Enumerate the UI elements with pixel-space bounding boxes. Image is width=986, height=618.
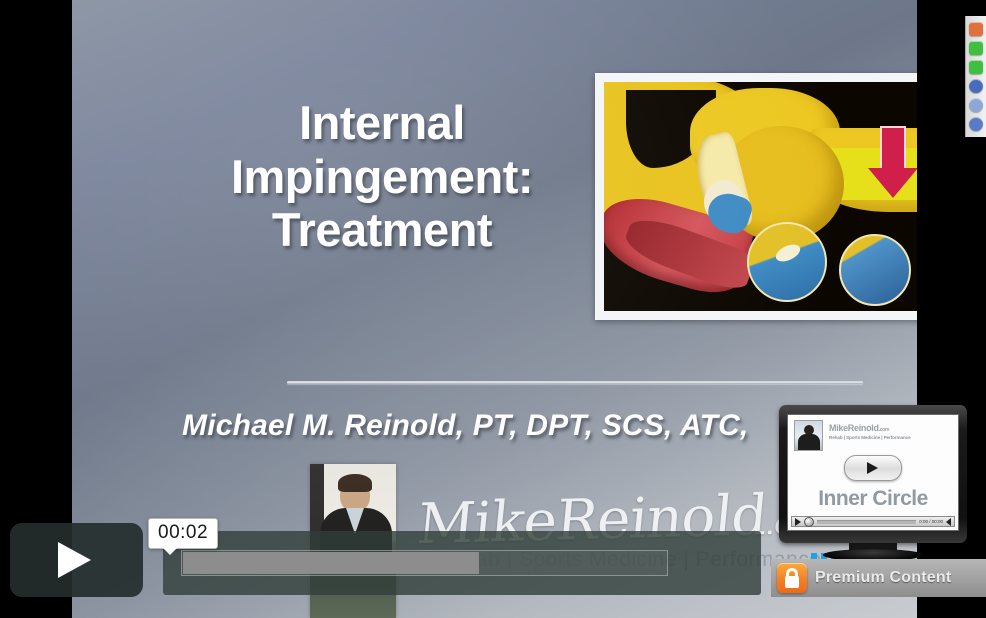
- slide-title-line-1: Internal: [167, 96, 597, 150]
- labrum-tear-shape-icon: [703, 188, 755, 237]
- monitor-screen: MikeReinold.com Rehab | Sports Medicine …: [787, 414, 959, 531]
- slide-divider: [287, 381, 863, 384]
- inset-detail-circle-1-icon: [747, 222, 827, 302]
- avatar: [794, 420, 823, 451]
- inner-circle-header: MikeReinold.com Rehab | Sports Medicine …: [794, 420, 911, 451]
- acromion-shape-icon: [690, 88, 840, 184]
- time-tooltip: 00:02: [148, 518, 218, 549]
- feed-share-icon[interactable]: [969, 41, 983, 55]
- inner-circle-tagline: Rehab | Sports Medicine | Performance: [829, 435, 911, 440]
- video-player-stage: Internal Impingement: Treatment: [0, 0, 986, 618]
- slide-title-line-2: Impingement:: [167, 150, 597, 204]
- inner-circle-brand: MikeReinold.com: [829, 420, 911, 433]
- premium-content-label: Premium Content: [815, 569, 951, 587]
- inner-circle-promo-widget[interactable]: MikeReinold.com Rehab | Sports Medicine …: [775, 399, 971, 562]
- progress-bar[interactable]: [181, 550, 668, 576]
- lock-icon: [777, 563, 807, 593]
- force-arrow-icon: [868, 126, 918, 198]
- inset-detail-circle-2-icon: [839, 234, 911, 306]
- inner-circle-brand-tld: .com: [879, 427, 889, 433]
- shoulder-anatomy-illustration: [604, 82, 944, 311]
- slide-title: Internal Impingement: Treatment: [167, 96, 597, 257]
- share-rail[interactable]: [965, 16, 986, 137]
- rss-share-icon[interactable]: [969, 22, 983, 36]
- premium-content-badge[interactable]: Premium Content: [771, 559, 986, 597]
- play-triangle-icon: [58, 542, 91, 578]
- mail-share-icon[interactable]: [969, 60, 983, 74]
- labrum-shape-icon: [704, 180, 744, 224]
- inner-circle-mini-player-bar[interactable]: 0:00 / 00:00: [791, 516, 955, 527]
- muscle-shape-secondary-icon: [621, 211, 758, 295]
- big-play-button[interactable]: [10, 523, 143, 597]
- slide-title-line-3: Treatment: [167, 203, 597, 257]
- play-triangle-icon: [867, 462, 878, 474]
- video-control-bar[interactable]: [163, 531, 761, 595]
- inner-circle-title: Inner Circle: [788, 487, 958, 511]
- more-share-icon[interactable]: [969, 117, 983, 131]
- scapula-shape-icon: [604, 82, 769, 228]
- inner-circle-play-button[interactable]: [844, 455, 902, 481]
- speaker-icon[interactable]: [946, 518, 951, 526]
- scapula-notch-shape-icon: [626, 90, 716, 168]
- play-icon[interactable]: [795, 518, 801, 526]
- mini-progress-track[interactable]: [817, 520, 916, 524]
- anatomy-illustration-frame: [595, 73, 953, 320]
- monitor-bezel: MikeReinold.com Rehab | Sports Medicine …: [779, 405, 967, 543]
- humeral-head-shape-icon: [719, 126, 844, 242]
- facebook-share-icon[interactable]: [969, 79, 983, 93]
- progress-bar-fill: [183, 552, 479, 574]
- muscle-shape-icon: [604, 187, 756, 301]
- twitter-share-icon[interactable]: [969, 98, 983, 112]
- scrubber-knob[interactable]: [804, 517, 814, 527]
- glenoid-shape-icon: [689, 130, 755, 234]
- mini-player-time: 0:00 / 00:00: [919, 519, 943, 524]
